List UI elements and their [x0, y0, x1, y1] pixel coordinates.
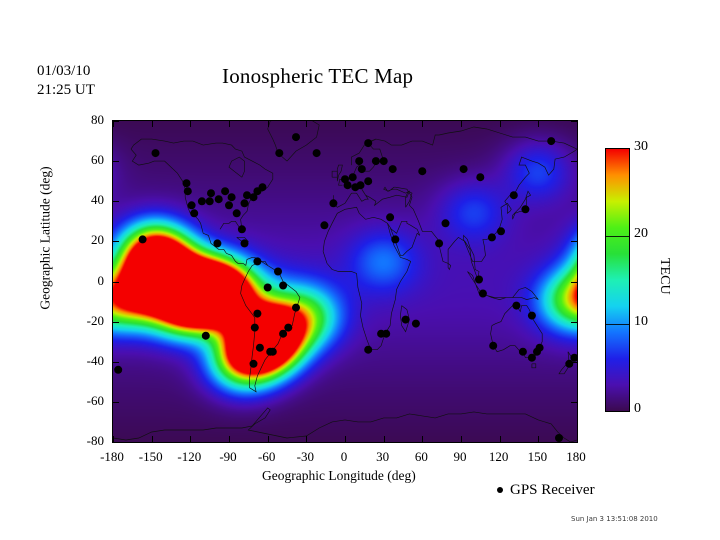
gps-receiver-marker — [221, 187, 229, 195]
tec-colorbar — [605, 148, 630, 412]
gps-receiver-marker — [357, 181, 365, 189]
filled-circle-icon — [497, 487, 503, 493]
colorbar-tick-mark — [606, 236, 629, 237]
gps-receiver-marker — [364, 346, 372, 354]
y-tick-mark — [571, 161, 577, 162]
y-tick-mark — [113, 241, 119, 242]
gps-receiver-marker — [206, 197, 214, 205]
gps-receiver-marker — [435, 239, 443, 247]
y-tick-mark — [571, 322, 577, 323]
y-tick-mark — [571, 241, 577, 242]
gps-receiver-marker — [479, 290, 487, 298]
x-tick-mark — [152, 436, 153, 442]
gps-receiver-marker — [225, 201, 233, 209]
gps-receiver-marker — [259, 183, 267, 191]
gps-receiver-marker — [349, 173, 357, 181]
y-tick-mark — [571, 282, 577, 283]
gps-receiver-marker — [442, 219, 450, 227]
y-tick-mark — [113, 402, 119, 403]
colorbar-tick-label: 10 — [634, 314, 648, 330]
gps-receiver-marker — [279, 330, 287, 338]
gps-receiver-marker — [418, 167, 426, 175]
x-tick-mark — [113, 121, 114, 127]
x-tick-mark — [577, 121, 578, 127]
gps-receiver-marker — [241, 199, 249, 207]
gps-receiver-marker — [279, 282, 287, 290]
x-tick-mark — [190, 121, 191, 127]
y-tick-mark — [571, 201, 577, 202]
render-timestamp: Sun Jan 3 13:51:08 2010 — [571, 515, 658, 523]
gps-receiver-marker — [313, 149, 321, 157]
gps-receiver-marker — [253, 310, 261, 318]
gps-receiver-marker — [292, 133, 300, 141]
gps-receiver-marker — [198, 197, 206, 205]
gps-receiver-marker — [519, 348, 527, 356]
coastline-paths — [113, 121, 577, 442]
gps-receiver-marker — [256, 344, 264, 352]
x-tick-mark — [190, 436, 191, 442]
x-tick-mark — [422, 436, 423, 442]
y-tick-mark — [113, 362, 119, 363]
y-tick-mark — [571, 442, 577, 443]
gps-receiver-marker — [358, 165, 366, 173]
gps-receiver-marker — [475, 276, 483, 284]
gps-receiver-marker — [266, 348, 274, 356]
coastline-path — [532, 364, 536, 368]
gps-receiver-marker — [233, 209, 241, 217]
gps-receiver-marker — [183, 179, 191, 187]
x-tick-mark — [384, 121, 385, 127]
x-tick-mark — [306, 436, 307, 442]
gps-receiver-marker — [489, 342, 497, 350]
gps-receiver-marker — [251, 324, 259, 332]
coastline-path — [339, 127, 577, 185]
gps-receiver-marker — [275, 149, 283, 157]
gps-receiver-marker — [228, 193, 236, 201]
gps-receiver-marker — [389, 165, 397, 173]
coastline-path — [333, 187, 409, 207]
gps-receiver-marker — [184, 187, 192, 195]
gps-receiver-marker — [320, 221, 328, 229]
x-tick-mark — [422, 121, 423, 127]
gps-receiver-marker — [497, 227, 505, 235]
gps-receiver-marker — [380, 157, 388, 165]
y-tick-label: -80 — [64, 433, 104, 449]
x-tick-mark — [345, 121, 346, 127]
x-tick-mark — [577, 436, 578, 442]
gps-receiver-marker — [412, 320, 420, 328]
coastline-path — [323, 207, 411, 349]
gps-receiver-marker — [264, 284, 272, 292]
colorbar-tick-label: 20 — [634, 226, 648, 242]
colorbar-gradient — [606, 149, 629, 411]
y-tick-label: 40 — [64, 192, 104, 208]
gps-receiver-markers — [114, 133, 577, 442]
x-tick-label: 180 — [552, 449, 600, 465]
y-tick-label: -20 — [64, 313, 104, 329]
gps-receiver-marker — [364, 177, 372, 185]
gps-receiver-marker — [386, 213, 394, 221]
gps-receiver-marker — [250, 360, 258, 368]
x-tick-mark — [384, 436, 385, 442]
gps-receiver-marker — [152, 149, 160, 157]
y-tick-mark — [113, 161, 119, 162]
y-tick-mark — [571, 402, 577, 403]
x-axis-title: Geographic Longitude (deg) — [262, 468, 416, 484]
y-tick-mark — [113, 322, 119, 323]
gps-receiver-marker — [188, 201, 196, 209]
y-tick-label: -40 — [64, 353, 104, 369]
gps-receiver-marker — [510, 191, 518, 199]
page-title: Ionospheric TEC Map — [222, 64, 413, 89]
gps-receiver-marker — [215, 195, 223, 203]
gps-receiver-marker — [355, 157, 363, 165]
observation-date: 01/03/10 — [37, 63, 90, 79]
gps-receiver-marker — [329, 199, 337, 207]
gps-receiver-marker — [253, 257, 261, 265]
x-tick-mark — [538, 436, 539, 442]
y-tick-mark — [113, 442, 119, 443]
gps-receiver-marker — [476, 173, 484, 181]
y-tick-label: 80 — [64, 112, 104, 128]
gps-receiver-marker — [364, 139, 372, 147]
y-tick-mark — [571, 362, 577, 363]
legend: GPS Receiver — [497, 482, 595, 499]
gps-receiver-marker — [391, 235, 399, 243]
gps-receiver-marker — [213, 239, 221, 247]
gps-receiver-marker — [241, 239, 249, 247]
gps-receiver-marker — [555, 434, 563, 442]
gps-receiver-marker — [521, 205, 529, 213]
gps-receiver-marker — [382, 330, 390, 338]
colorbar-tick-label: 30 — [634, 139, 648, 155]
map-plot-area — [112, 120, 578, 443]
gps-receiver-marker — [207, 189, 215, 197]
gps-receiver-marker — [512, 302, 520, 310]
tec-map-figure: 01/03/1021:25 UT Ionospheric TEC Map -80… — [0, 0, 720, 540]
coastline-path — [268, 121, 320, 161]
gps-receiver-marker — [274, 268, 282, 276]
gps-receiver-marker — [402, 316, 410, 324]
gps-receiver-marker — [139, 235, 147, 243]
x-tick-mark — [152, 121, 153, 127]
gps-receiver-marker — [528, 312, 536, 320]
x-tick-mark — [500, 436, 501, 442]
x-tick-mark — [268, 121, 269, 127]
gps-receiver-marker — [284, 324, 292, 332]
x-tick-mark — [461, 121, 462, 127]
coastline-path — [229, 157, 245, 177]
coastline-path — [332, 171, 337, 177]
gps-receiver-marker — [341, 175, 349, 183]
gps-receiver-marker — [460, 165, 468, 173]
gps-receiver-marker — [488, 233, 496, 241]
x-tick-mark — [268, 436, 269, 442]
colorbar-tick-label: 0 — [634, 401, 641, 417]
gps-receiver-marker — [114, 366, 122, 374]
coastline-path — [448, 263, 451, 269]
colorbar-title: TECU — [656, 258, 672, 295]
x-tick-mark — [229, 436, 230, 442]
gps-receiver-marker — [202, 332, 210, 340]
y-axis-title: Geographic Latitude (deg) — [38, 166, 54, 309]
map-overlay — [113, 121, 577, 442]
y-tick-mark — [113, 282, 119, 283]
x-tick-mark — [113, 436, 114, 442]
x-tick-mark — [538, 121, 539, 127]
y-tick-label: -60 — [64, 393, 104, 409]
x-tick-mark — [345, 436, 346, 442]
gps-receiver-marker — [292, 304, 300, 312]
colorbar-tick-mark — [606, 324, 629, 325]
y-tick-mark — [113, 201, 119, 202]
observation-datetime: 01/03/1021:25 UT — [37, 62, 95, 100]
gps-receiver-marker — [547, 137, 555, 145]
observation-time: 21:25 UT — [37, 82, 95, 98]
gps-receiver-marker — [528, 354, 536, 362]
y-tick-label: 60 — [64, 152, 104, 168]
y-tick-label: 0 — [64, 273, 104, 289]
gps-receiver-marker — [190, 209, 198, 217]
x-tick-mark — [229, 121, 230, 127]
legend-label-gps-receiver: GPS Receiver — [510, 482, 595, 499]
y-tick-label: 20 — [64, 232, 104, 248]
x-tick-mark — [306, 121, 307, 127]
gps-receiver-marker — [372, 157, 380, 165]
gps-receiver-marker — [238, 225, 246, 233]
x-tick-mark — [461, 436, 462, 442]
x-tick-mark — [500, 121, 501, 127]
